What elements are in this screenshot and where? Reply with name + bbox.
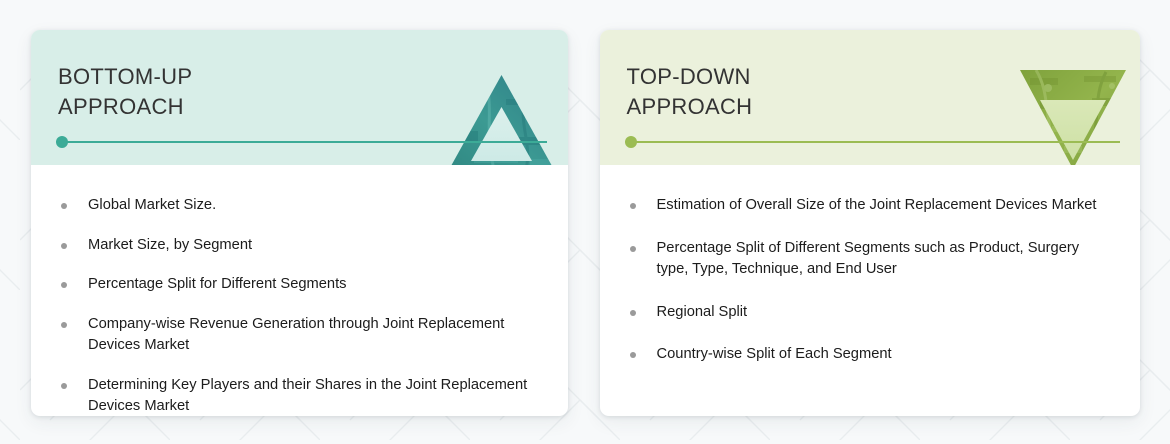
bullet-dot-icon — [630, 352, 636, 358]
card-body-bottom-up: Global Market Size. Market Size, by Segm… — [31, 165, 568, 416]
bullet-dot-icon — [61, 282, 67, 288]
list-item-label: Regional Split — [657, 304, 748, 320]
list-item-label: Country-wise Split of Each Segment — [657, 346, 892, 362]
card-header-bottom-up: BOTTOM-UP APPROACH — [31, 30, 568, 165]
card-bottom-up-approach: BOTTOM-UP APPROACH — [31, 30, 568, 416]
list-item-label: Percentage Split of Different Segments s… — [657, 240, 1080, 278]
triangle-down-icon — [1018, 68, 1128, 165]
accent-line — [636, 141, 1120, 143]
bullet-list-top-down: Estimation of Overall Size of the Joint … — [626, 195, 1115, 366]
list-item: Company-wise Revenue Generation through … — [57, 314, 542, 357]
triangle-up-icon — [444, 73, 559, 165]
accent-line — [67, 141, 547, 143]
card-top-down-approach: TOP-DOWN APPROACH — [600, 30, 1141, 416]
card-body-top-down: Estimation of Overall Size of the Joint … — [600, 165, 1141, 416]
bullet-dot-icon — [630, 246, 636, 252]
list-item-label: Estimation of Overall Size of the Joint … — [657, 197, 1097, 213]
list-item-label: Market Size, by Segment — [88, 237, 252, 253]
accent-bar-top-down — [625, 136, 1120, 148]
card-header-top-down: TOP-DOWN APPROACH — [600, 30, 1141, 165]
list-item: Percentage Split for Different Segments — [57, 274, 542, 296]
list-item: Estimation of Overall Size of the Joint … — [626, 195, 1115, 217]
card-title-bottom-up: BOTTOM-UP APPROACH — [58, 62, 192, 122]
list-item-label: Global Market Size. — [88, 197, 216, 213]
list-item: Determining Key Players and their Shares… — [57, 375, 542, 417]
list-item-label: Company-wise Revenue Generation through … — [88, 316, 504, 354]
bullet-dot-icon — [630, 203, 636, 209]
bullet-dot-icon — [61, 322, 67, 328]
card-title-top-down: TOP-DOWN APPROACH — [627, 62, 753, 122]
bullet-dot-icon — [61, 203, 67, 209]
list-item: Percentage Split of Different Segments s… — [626, 238, 1115, 281]
list-item: Regional Split — [626, 302, 1115, 324]
list-item: Global Market Size. — [57, 195, 542, 217]
bullet-dot-icon — [61, 383, 67, 389]
list-item: Country-wise Split of Each Segment — [626, 344, 1115, 366]
accent-bar-bottom-up — [56, 136, 547, 148]
list-item-label: Determining Key Players and their Shares… — [88, 377, 527, 415]
bullet-dot-icon — [61, 243, 67, 249]
list-item: Market Size, by Segment — [57, 235, 542, 257]
approach-cards-container: BOTTOM-UP APPROACH — [0, 0, 1170, 444]
bullet-dot-icon — [630, 310, 636, 316]
list-item-label: Percentage Split for Different Segments — [88, 276, 347, 292]
bullet-list-bottom-up: Global Market Size. Market Size, by Segm… — [57, 195, 542, 416]
